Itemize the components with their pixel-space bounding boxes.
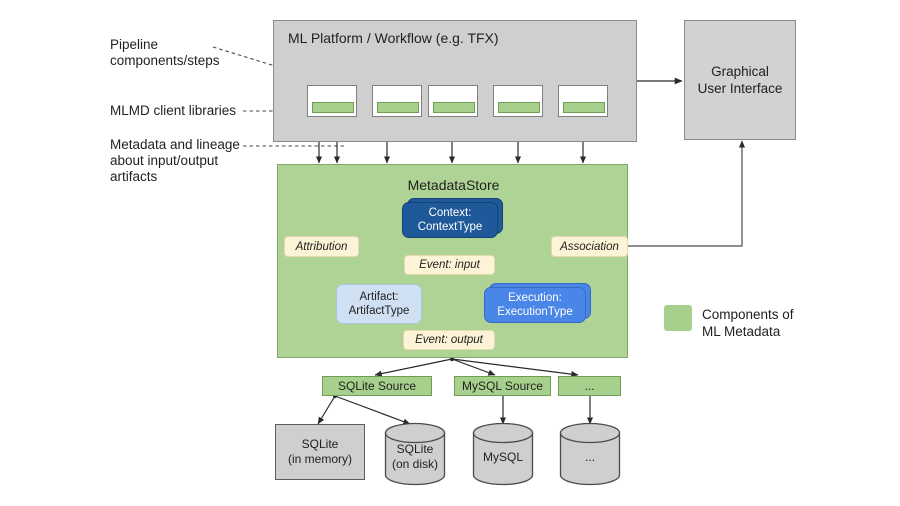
storage-mysql-shape[interactable] [472,422,534,486]
artifact-node[interactable]: Artifact: ArtifactType [336,284,422,324]
pipeline-component-5[interactable] [558,85,608,117]
storage-sqlite-on-disk-shape[interactable] [384,422,446,486]
metadata-store-title: MetadataStore [278,177,629,193]
context-node[interactable]: Context: ContextType [402,202,498,238]
event-input-relation[interactable]: Event: input [404,255,495,275]
legend-color-swatch [664,305,692,331]
mlmd-client-library-bar-5 [563,102,605,113]
mlmd-client-library-bar-4 [498,102,540,113]
execution-node[interactable]: Execution: ExecutionType [484,287,586,323]
mlmd-client-library-bar-1 [312,102,354,113]
pipeline-component-3[interactable] [428,85,478,117]
mlmd-client-library-bar-3 [433,102,475,113]
ml-platform-title: ML Platform / Workflow (e.g. TFX) [288,30,499,46]
attribution-relation[interactable]: Attribution [284,236,359,257]
arrows-sources-to-storage [318,394,590,424]
diagram-canvas: Pipeline components/steps MLMD client li… [0,0,900,506]
pipeline-component-2[interactable] [372,85,422,117]
source-other[interactable]: ... [558,376,621,396]
association-relation[interactable]: Association [551,236,628,257]
event-output-relation[interactable]: Event: output [403,330,495,350]
annotation-pipeline-components: Pipeline components/steps [110,37,250,69]
pipeline-component-1[interactable] [307,85,357,117]
storage-sqlite-in-memory[interactable]: SQLite (in memory) [275,424,365,480]
annotation-metadata-lineage: Metadata and lineage about input/output … [110,137,260,185]
arrows-store-to-sources [375,357,578,375]
annotation-mlmd-client-libraries: MLMD client libraries [110,103,260,119]
legend-label: Components of ML Metadata [702,306,852,340]
connector-association-gui [628,141,742,246]
ml-platform-container: ML Platform / Workflow (e.g. TFX) [273,20,637,142]
source-sqlite[interactable]: SQLite Source [322,376,432,396]
graphical-user-interface-box[interactable]: Graphical User Interface [684,20,796,140]
storage-other-shape[interactable] [559,422,621,486]
mlmd-client-library-bar-2 [377,102,419,113]
pipeline-component-4[interactable] [493,85,543,117]
source-mysql[interactable]: MySQL Source [454,376,551,396]
